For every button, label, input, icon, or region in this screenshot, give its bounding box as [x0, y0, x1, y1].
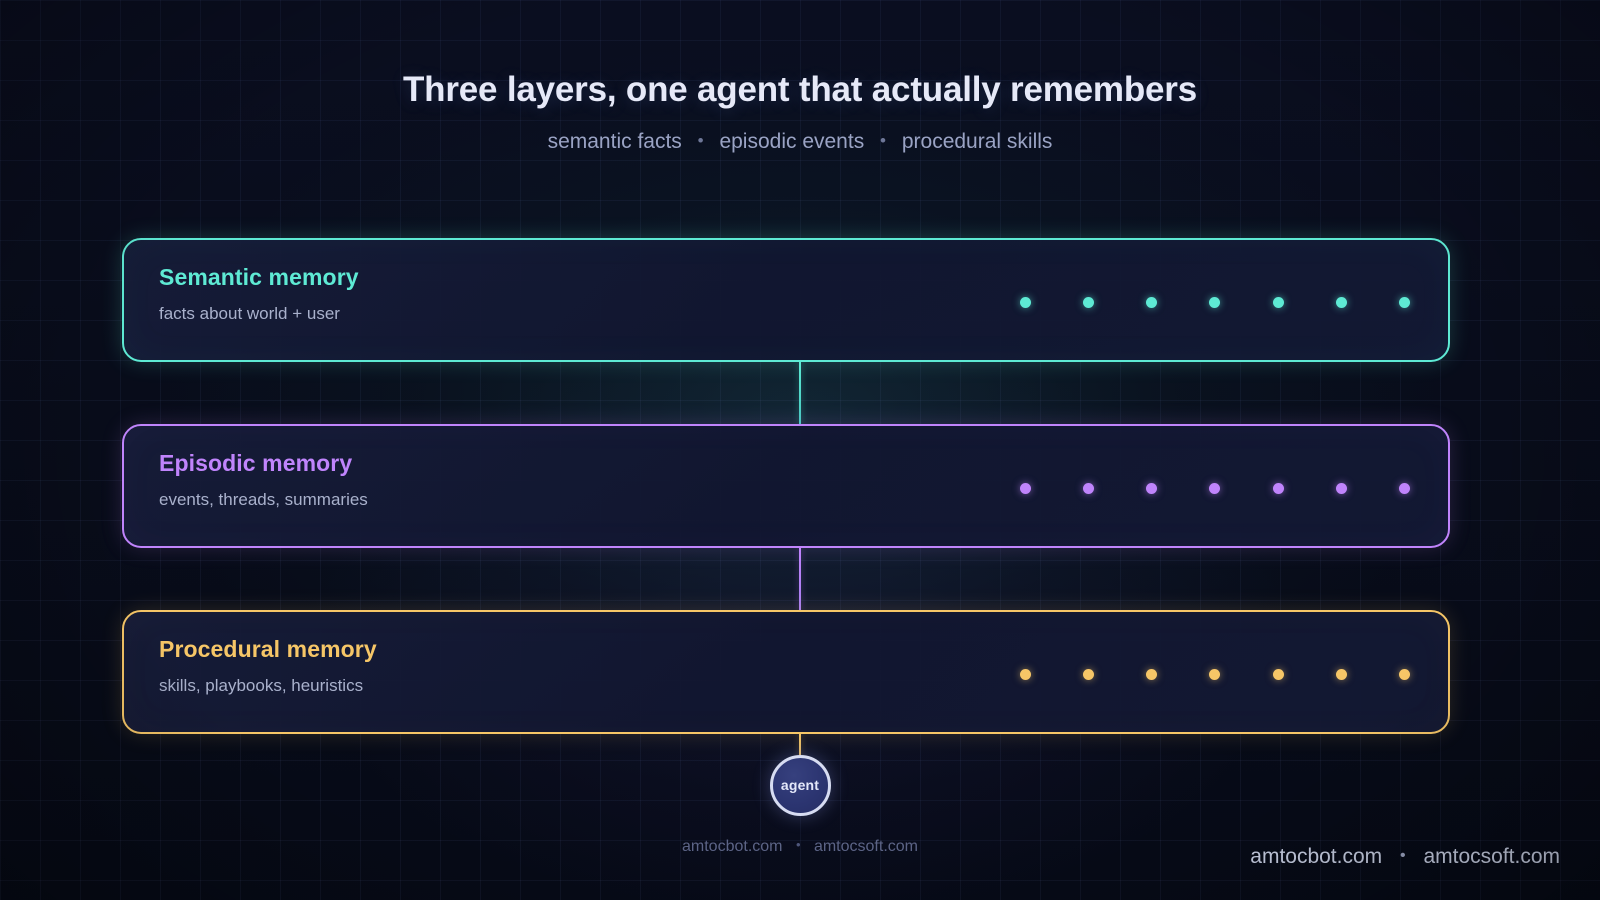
memory-dot [1020, 483, 1031, 494]
footer-center-right-link[interactable]: amtocsoft.com [814, 838, 918, 855]
subtitle-part-episodic: episodic events [719, 130, 864, 153]
layer-subtitle-semantic: facts about world + user [159, 304, 359, 324]
layer-card-procedural[interactable]: Procedural memory skills, playbooks, heu… [122, 610, 1450, 734]
layer-subtitle-episodic: events, threads, summaries [159, 490, 368, 510]
diagram-stage: Three layers, one agent that actually re… [0, 0, 1600, 900]
memory-dot [1083, 297, 1094, 308]
memory-dot [1020, 669, 1031, 680]
memory-dot [1273, 297, 1284, 308]
memory-dot [1083, 669, 1094, 680]
page-title: Three layers, one agent that actually re… [0, 70, 1600, 110]
memory-dot [1399, 297, 1410, 308]
memory-dot [1020, 297, 1031, 308]
layer-card-episodic[interactable]: Episodic memory events, threads, summari… [122, 424, 1450, 548]
footer-center-separator-icon: • [787, 837, 810, 852]
layer-title-procedural: Procedural memory [159, 636, 377, 663]
layer-card-text: Semantic memory facts about world + user [159, 264, 359, 324]
header: Three layers, one agent that actually re… [0, 0, 1600, 154]
page-subtitle: semantic facts • episodic events • proce… [0, 130, 1600, 154]
memory-dot [1209, 483, 1220, 494]
layer-subtitle-procedural: skills, playbooks, heuristics [159, 676, 377, 696]
memory-dot [1146, 297, 1157, 308]
footer-brand-left-link[interactable]: amtocbot.com [1250, 845, 1382, 868]
footer-brand-separator-icon: • [1388, 847, 1418, 864]
memory-dot [1336, 297, 1347, 308]
agent-node-label: agent [781, 777, 819, 793]
agent-node[interactable]: agent [770, 755, 831, 816]
subtitle-part-semantic: semantic facts [548, 130, 682, 153]
subtitle-separator-icon: • [688, 131, 714, 150]
memory-dot [1273, 483, 1284, 494]
memory-dot [1273, 669, 1284, 680]
connector-episodic-to-procedural [799, 547, 801, 611]
footer-brand-right-link[interactable]: amtocsoft.com [1423, 845, 1560, 868]
memory-dot [1399, 483, 1410, 494]
layer-title-semantic: Semantic memory [159, 264, 359, 291]
dot-row-episodic [1020, 426, 1410, 548]
memory-dot [1083, 483, 1094, 494]
subtitle-separator-icon: • [870, 131, 896, 150]
footer-brand-watermark: amtocbot.com • amtocsoft.com [1250, 845, 1560, 869]
connector-semantic-to-episodic [799, 361, 801, 425]
memory-dot [1209, 669, 1220, 680]
subtitle-part-procedural: procedural skills [902, 130, 1053, 153]
memory-dot [1209, 297, 1220, 308]
memory-dot [1146, 669, 1157, 680]
memory-dot [1146, 483, 1157, 494]
layer-card-text: Procedural memory skills, playbooks, heu… [159, 636, 377, 696]
dot-row-procedural [1020, 612, 1410, 734]
layer-card-semantic[interactable]: Semantic memory facts about world + user [122, 238, 1450, 362]
layer-title-episodic: Episodic memory [159, 450, 368, 477]
memory-dot [1336, 669, 1347, 680]
footer-center-left-link[interactable]: amtocbot.com [682, 838, 782, 855]
memory-dot [1336, 483, 1347, 494]
dot-row-semantic [1020, 240, 1410, 362]
layer-card-text: Episodic memory events, threads, summari… [159, 450, 368, 510]
memory-dot [1399, 669, 1410, 680]
